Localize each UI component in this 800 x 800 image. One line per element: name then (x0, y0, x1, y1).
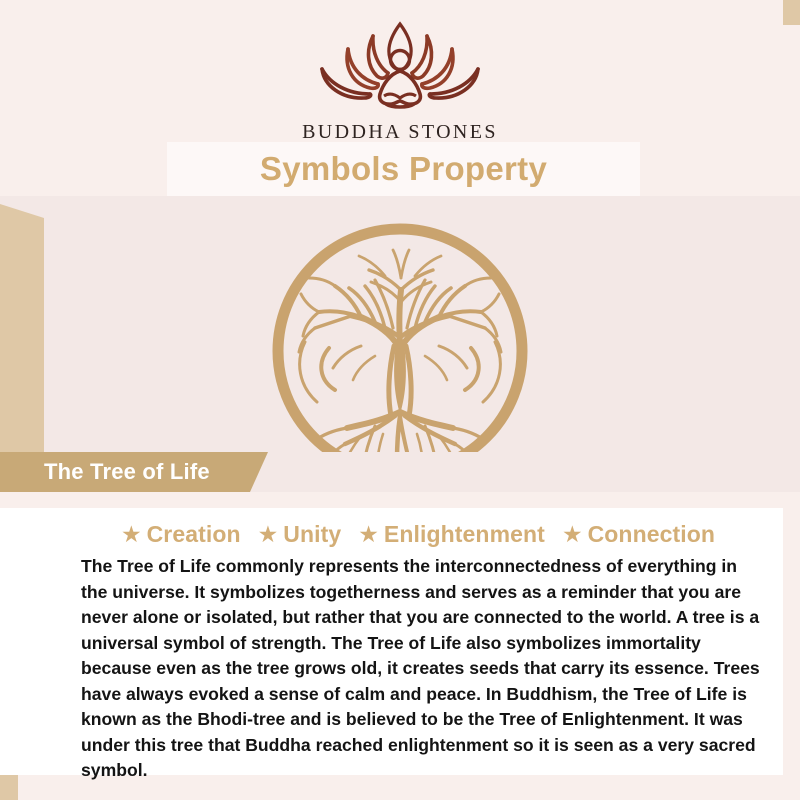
star-icon: ★ (562, 523, 583, 546)
star-icon: ★ (358, 523, 379, 546)
keyword-label: Creation (147, 521, 241, 548)
keyword-item: ★ Creation (121, 521, 241, 548)
star-icon: ★ (121, 523, 142, 546)
keyword-item: ★ Connection (562, 521, 715, 548)
description-panel: ★ Creation ★ Unity ★ Enlightenment ★ Con… (53, 508, 783, 775)
symbol-banner: The Tree of Life (0, 452, 268, 492)
keyword-item: ★ Unity (258, 521, 342, 548)
content-left-bleed (0, 508, 53, 775)
decorative-left-stripe (0, 204, 44, 452)
brand-name: BUDDHA STONES (302, 121, 498, 144)
symbol-banner-label: The Tree of Life (44, 459, 210, 485)
page-title-band: Symbols Property (167, 142, 640, 196)
keyword-list: ★ Creation ★ Unity ★ Enlightenment ★ Con… (53, 521, 783, 548)
tree-of-life-circle-icon (265, 216, 535, 486)
bottom-left-tan-corner (0, 775, 18, 800)
keyword-label: Enlightenment (384, 521, 545, 548)
star-icon: ★ (258, 523, 279, 546)
page-title: Symbols Property (260, 150, 547, 188)
brand-header: BUDDHA STONES (0, 0, 800, 142)
description-text: The Tree of Life commonly represents the… (53, 554, 783, 784)
keyword-label: Connection (588, 521, 716, 548)
keyword-label: Unity (283, 521, 341, 548)
keyword-item: ★ Enlightenment (358, 521, 545, 548)
lotus-meditation-figure-icon (300, 16, 500, 119)
